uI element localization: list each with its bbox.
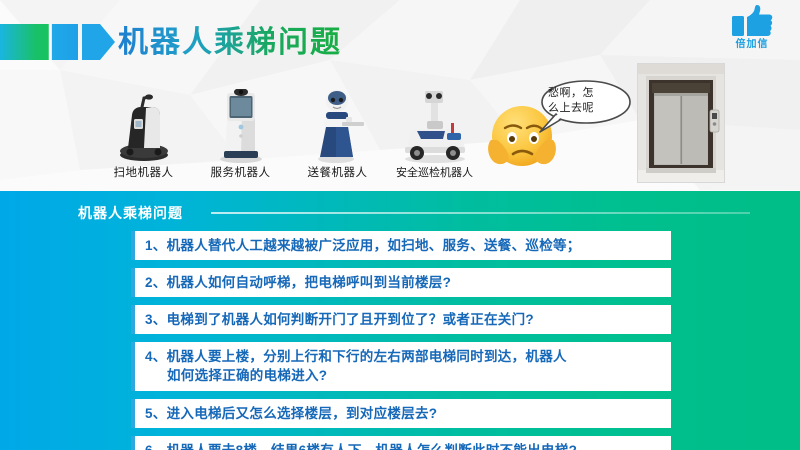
panel-heading: 机器人乘梯问题 [78, 203, 183, 223]
question-list: 1、机器人替代人工越来越被广泛应用，如扫地、服务、送餐、巡检等； 2、机器人如何… [131, 231, 671, 450]
elevator-door-photo [637, 63, 725, 183]
slide: 机器人乘梯问题 倍加信 [0, 0, 800, 450]
delivery-robot-icon [306, 85, 370, 163]
list-item[interactable]: 4、机器人要上楼，分别上行和下行的左右两部电梯同时到达，机器人 如何选择正确的电… [131, 342, 671, 391]
thumbs-up-icon [730, 4, 774, 38]
robot-label: 送餐机器人 [308, 166, 368, 180]
brand-logo-text: 倍加信 [716, 39, 788, 50]
list-item[interactable]: 5、进入电梯后又怎么选择楼层，到对应楼层去? [131, 399, 671, 428]
title-arrow-shape [0, 22, 115, 62]
content-panel: 机器人乘梯问题 1、机器人替代人工越来越被广泛应用，如扫地、服务、送餐、巡检等；… [0, 191, 800, 450]
robot-item: 扫地机器人 [95, 80, 192, 180]
list-item[interactable]: 1、机器人替代人工越来越被广泛应用，如扫地、服务、送餐、巡检等； [131, 231, 671, 260]
floor-cleaning-robot-icon [108, 85, 180, 163]
security-patrol-robot-icon [397, 85, 473, 163]
panel-heading-row: 机器人乘梯问题 [78, 202, 760, 224]
bubble-line-2: 么上去呢 [548, 101, 622, 116]
service-robot-icon [211, 85, 271, 163]
heading-divider [211, 212, 750, 214]
list-item[interactable]: 3、电梯到了机器人如何判断开门了且开到位了？或者正在关门? [131, 305, 671, 334]
speech-bubble-text: 愁啊，怎 么上去呢 [548, 86, 622, 116]
slide-header: 机器人乘梯问题 倍加信 [0, 0, 800, 190]
brand-logo: 倍加信 [716, 4, 788, 56]
robot-label: 扫地机器人 [114, 166, 174, 180]
robot-label: 安全巡检机器人 [396, 166, 473, 180]
robot-item: 服务机器人 [192, 80, 289, 180]
robot-gallery: 扫地机器人 [95, 80, 495, 180]
robot-item: 安全巡检机器人 [386, 80, 483, 180]
page-title: 机器人乘梯问题 [118, 24, 342, 62]
list-item-line-2: 如何选择正确的电梯进入? [145, 366, 663, 385]
robot-label: 服务机器人 [211, 166, 271, 180]
list-item[interactable]: 2、机器人如何自动呼梯，把电梯呼叫到当前楼层? [131, 268, 671, 297]
robot-item: 送餐机器人 [289, 80, 386, 180]
list-item-line-1: 4、机器人要上楼，分别上行和下行的左右两部电梯同时到达，机器人 [145, 347, 567, 366]
list-item[interactable]: 6、机器人要去8楼，结果6楼有人下，机器人怎么判断此时不能出电梯? [131, 436, 671, 450]
bubble-line-1: 愁啊，怎 [548, 86, 622, 101]
